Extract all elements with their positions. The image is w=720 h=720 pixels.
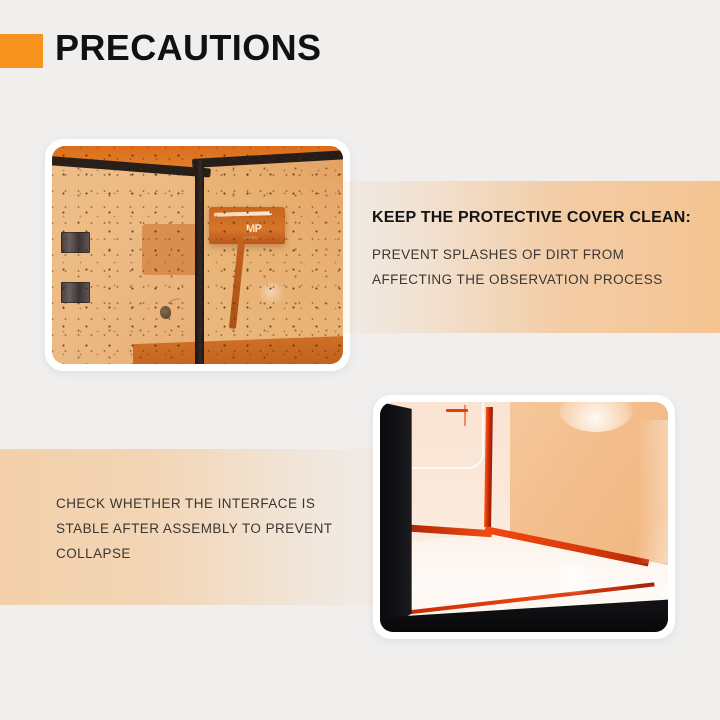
- assembly-clip-vertical: [464, 405, 467, 426]
- tip-body-interface-stability: CHECK WHETHER THE INTERFACE IS STABLE AF…: [56, 491, 356, 566]
- tip-panel-interface-stability: CHECK WHETHER THE INTERFACE IS STABLE AF…: [0, 449, 420, 605]
- photo-enclosure-corner-joint: [380, 402, 668, 632]
- photo-card-interface-stability: [373, 395, 675, 639]
- light-glare-middle: [550, 558, 596, 595]
- tip-panel-protective-cover: KEEP THE PROTECTIVE COVER CLEAN: PREVENT…: [300, 181, 720, 333]
- enclosure-frame-left: [380, 402, 412, 632]
- page-title: PRECAUTIONS: [55, 25, 321, 71]
- accent-bar: [0, 34, 43, 68]
- tip-heading-protective-cover: KEEP THE PROTECTIVE COVER CLEAN:: [372, 206, 702, 230]
- tip-panel-content: CHECK WHETHER THE INTERFACE IS STABLE AF…: [56, 491, 356, 566]
- header: PRECAUTIONS: [0, 0, 720, 110]
- tip-panel-content: KEEP THE PROTECTIVE COVER CLEAN: PREVENT…: [372, 206, 702, 292]
- light-glare-right: [631, 420, 668, 563]
- precautions-infographic: PRECAUTIONS MP LASER: [0, 0, 720, 720]
- tip-body-protective-cover: PREVENT SPLASHES OF DIRT FROM AFFECTING …: [372, 242, 702, 292]
